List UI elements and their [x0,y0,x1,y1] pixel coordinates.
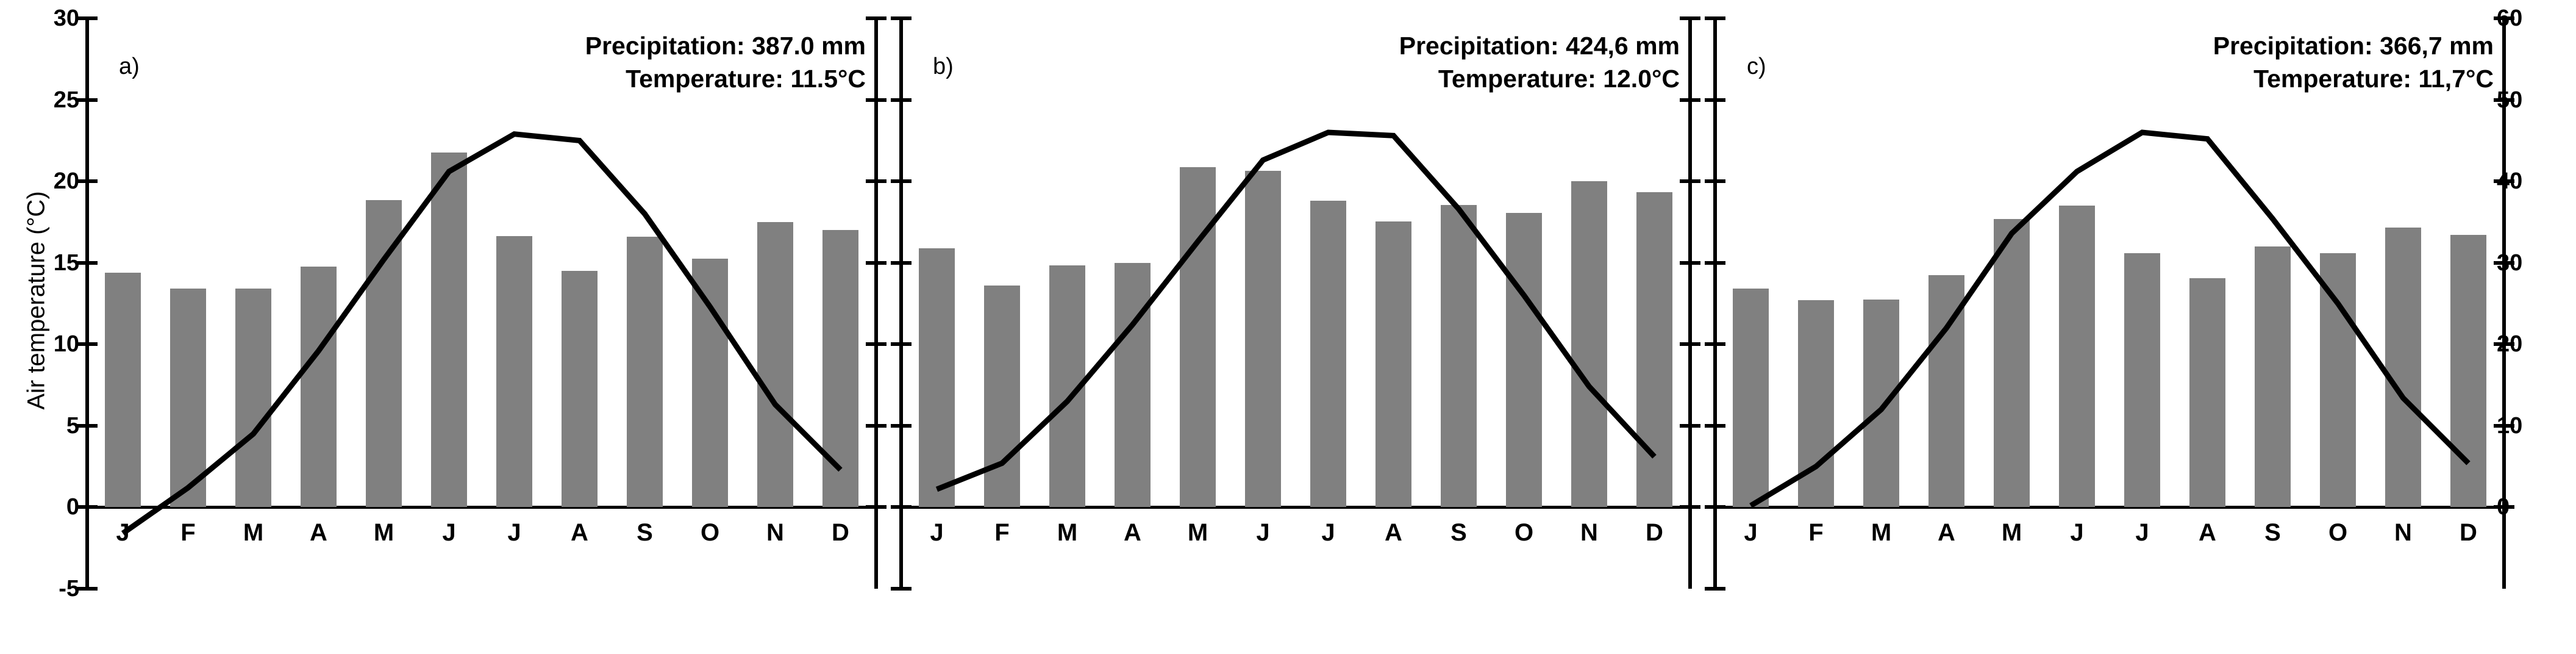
panel-left-spine [899,18,903,589]
temperature-mean-label: Temperature: 12.0°C [1399,62,1680,95]
month-label: F [1783,514,1849,551]
month-label: F [969,514,1035,551]
left-axis-tick-labels: 302520151050-5 [12,0,79,654]
panel-a: a)Precipitation: 387.0 mmTemperature: 11… [85,0,878,654]
month-label: J [482,514,547,551]
month-label: N [1557,514,1622,551]
month-axis-labels: JFMAMJJASOND [90,514,873,551]
right-axis-tick-labels: 6050403020100 [2497,0,2564,654]
panel-stats: Precipitation: 387.0 mmTemperature: 11.5… [585,29,866,95]
month-label: J [2044,514,2110,551]
precipitation-total-label: Precipitation: 387.0 mm [585,29,866,62]
month-label: M [1165,514,1230,551]
panel-letter: c) [1747,54,1766,80]
panel-b: b)Precipitation: 424,6 mmTemperature: 12… [899,0,1692,654]
temperature-mean-label: Temperature: 11,7°C [2213,62,2494,95]
panel-left-spine [1713,18,1717,589]
right-tick-40: 40 [2497,170,2522,193]
right-tick-0: 0 [2497,495,2510,519]
panel-c: c)Precipitation: 366,7 mmTemperature: 11… [1713,0,2506,654]
panel-letter: b) [933,54,954,80]
left-tick-10: 10 [54,332,79,356]
month-label: M [221,514,286,551]
month-label: O [2305,514,2371,551]
temperature-mean-label: Temperature: 11.5°C [585,62,866,95]
right-tick-30: 30 [2497,251,2522,275]
month-label: N [2371,514,2436,551]
panel-left-spine [85,18,89,589]
month-label: J [1718,514,1783,551]
panel-right-spine [1688,18,1692,589]
month-label: O [677,514,743,551]
month-label: J [1230,514,1296,551]
month-label: A [1100,514,1165,551]
month-label: J [1296,514,1361,551]
month-label: S [612,514,677,551]
month-label: J [90,514,155,551]
month-label: S [1426,514,1491,551]
month-label: J [904,514,969,551]
left-tick-15: 15 [54,251,79,275]
month-label: F [155,514,221,551]
climate-diagram-figure: Air temperature (°C) 302520151050-5 a)Pr… [0,0,2576,654]
left-tick-30: 30 [54,7,79,30]
panel-right-spine [874,18,878,589]
month-label: D [808,514,873,551]
month-label: O [1491,514,1557,551]
month-label: D [2436,514,2501,551]
left-tick-neg5: -5 [59,577,79,600]
month-label: A [547,514,612,551]
panel-letter: a) [119,54,140,80]
month-label: A [1914,514,1979,551]
right-tick-50: 50 [2497,88,2522,112]
month-label: J [416,514,482,551]
right-tick-60: 60 [2497,7,2522,30]
month-label: M [1035,514,1100,551]
month-axis-labels: JFMAMJJASOND [1718,514,2501,551]
panel-stats: Precipitation: 366,7 mmTemperature: 11,7… [2213,29,2494,95]
precipitation-total-label: Precipitation: 424,6 mm [1399,29,1680,62]
precipitation-total-label: Precipitation: 366,7 mm [2213,29,2494,62]
month-axis-labels: JFMAMJJASOND [904,514,1687,551]
month-label: A [1361,514,1426,551]
month-label: D [1622,514,1687,551]
month-label: S [2240,514,2305,551]
month-label: M [1849,514,1914,551]
right-tick-20: 20 [2497,332,2522,356]
right-tick-10: 10 [2497,414,2522,437]
month-label: N [743,514,808,551]
left-tick-20: 20 [54,170,79,193]
panel-stats: Precipitation: 424,6 mmTemperature: 12.0… [1399,29,1680,95]
month-label: A [2175,514,2240,551]
month-label: A [286,514,351,551]
month-label: J [2110,514,2175,551]
month-label: M [1979,514,2044,551]
left-tick-25: 25 [54,88,79,112]
month-label: M [351,514,416,551]
